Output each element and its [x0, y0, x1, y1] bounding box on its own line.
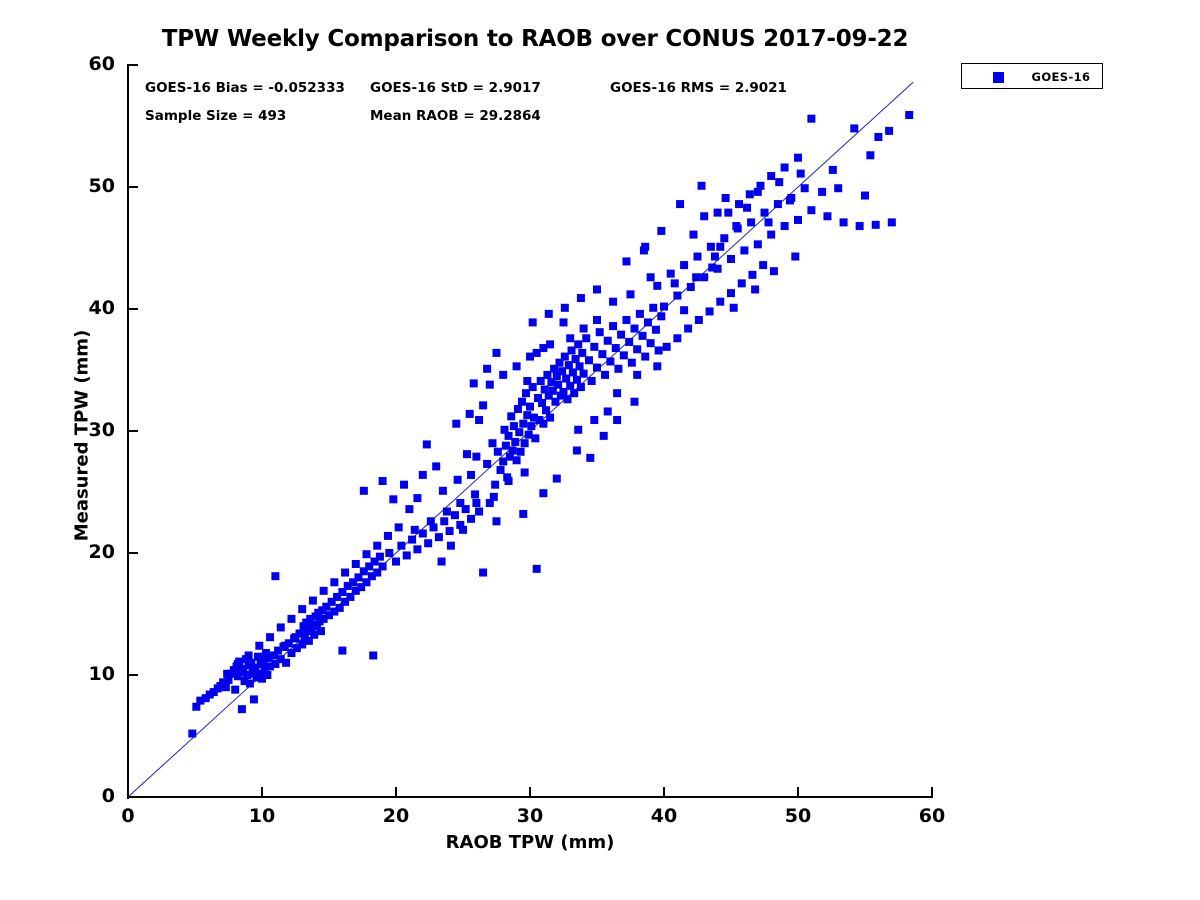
y-axis-tick	[129, 796, 138, 798]
page-title: TPW Weekly Comparison to RAOB over CONUS…	[0, 26, 1070, 52]
x-axis-tick-label: 50	[768, 807, 828, 826]
x-axis-tick	[797, 787, 799, 796]
x-axis-tick	[931, 787, 933, 796]
y-axis-tick-label: 40	[55, 299, 115, 318]
y-axis-tick	[129, 552, 138, 554]
x-axis-spine	[127, 796, 933, 798]
stat-rms: GOES-16 RMS = 2.9021	[610, 80, 787, 96]
legend-marker-goes-16	[993, 72, 1004, 83]
x-axis-label: RAOB TPW (mm)	[130, 832, 930, 853]
x-axis-tick-label: 60	[902, 807, 962, 826]
y-axis-tick-label: 50	[55, 177, 115, 196]
plot-area	[128, 65, 932, 797]
legend[interactable]: GOES-16	[961, 63, 1103, 89]
y-axis-tick	[129, 674, 138, 676]
x-axis-tick-label: 40	[634, 807, 694, 826]
figure-canvas: TPW Weekly Comparison to RAOB over CONUS…	[0, 0, 1200, 900]
x-axis-tick	[395, 787, 397, 796]
x-axis-tick-label: 30	[500, 807, 560, 826]
stat-std: GOES-16 StD = 2.9017	[370, 80, 541, 96]
y-axis-tick-label: 10	[55, 665, 115, 684]
y-axis-tick	[129, 430, 138, 432]
y-axis-tick-label: 0	[55, 787, 115, 806]
y-axis-tick-label: 30	[55, 421, 115, 440]
stat-sample-size: Sample Size = 493	[145, 108, 286, 124]
x-axis-tick-label: 10	[232, 807, 292, 826]
x-axis-tick	[529, 787, 531, 796]
x-axis-tick	[663, 787, 665, 796]
stat-bias: GOES-16 Bias = -0.052333	[145, 80, 345, 96]
x-axis-tick	[127, 787, 129, 796]
stat-mean-raob: Mean RAOB = 29.2864	[370, 108, 541, 124]
legend-label-goes-16: GOES-16	[1022, 70, 1100, 84]
y-axis-tick-label: 60	[55, 55, 115, 74]
x-axis-tick-label: 20	[366, 807, 426, 826]
y-axis-tick-label: 20	[55, 543, 115, 562]
x-axis-tick-label: 0	[98, 807, 158, 826]
y-axis-tick	[129, 308, 138, 310]
y-axis-tick	[129, 64, 138, 66]
x-axis-tick	[261, 787, 263, 796]
y-axis-tick	[129, 186, 138, 188]
